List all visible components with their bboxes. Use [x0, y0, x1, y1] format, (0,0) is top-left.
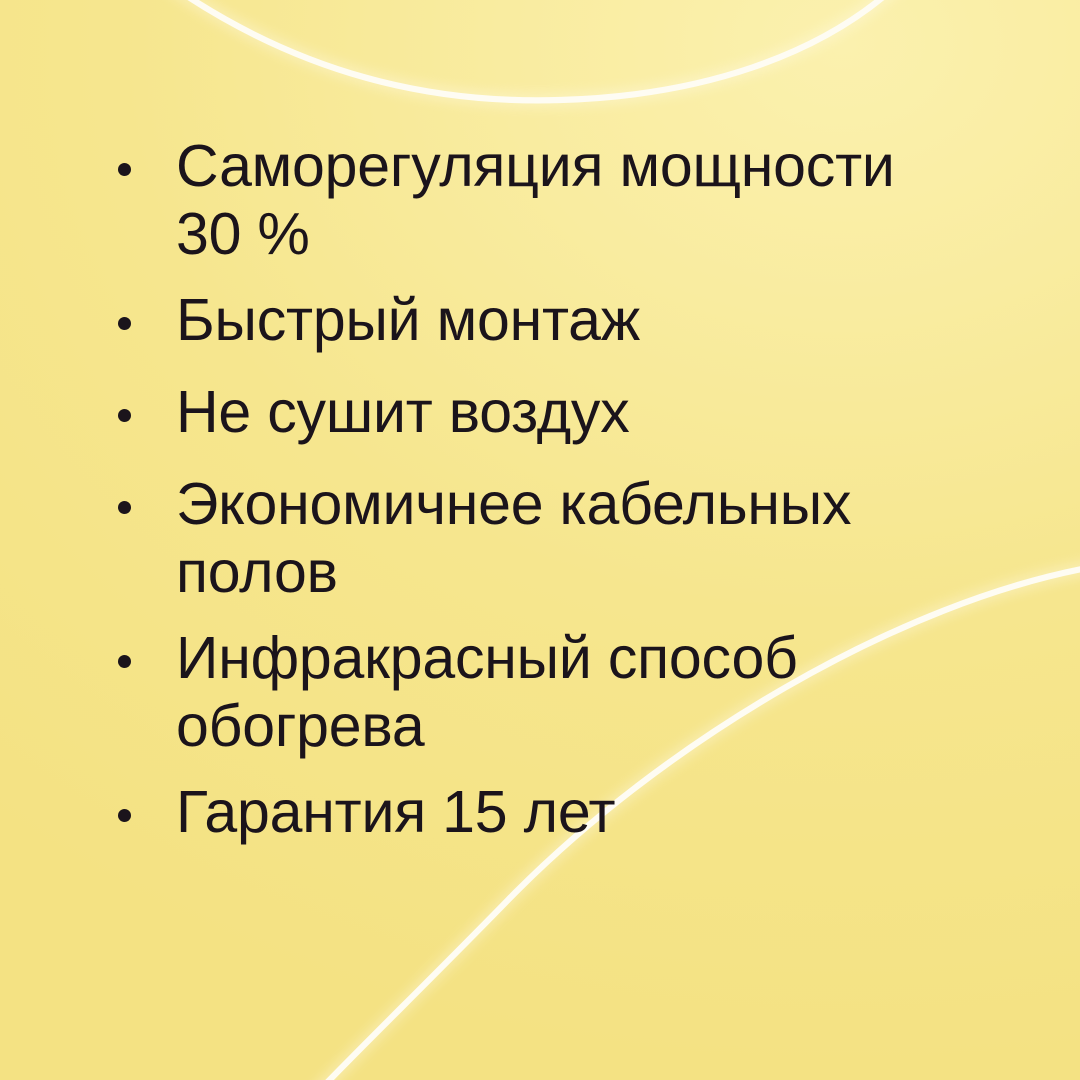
list-item-label: Гарантия 15 лет: [176, 778, 1004, 846]
bullet-dot-icon: [118, 409, 131, 422]
bullet-dot-icon: [118, 163, 131, 176]
list-item-label: Экономичнее кабельных полов: [176, 470, 1004, 606]
bullet-dot-icon: [118, 501, 131, 514]
list-item-label: Быстрый монтаж: [176, 286, 1004, 354]
list-item: Быстрый монтаж: [104, 286, 1004, 354]
bullet-dot-icon: [118, 655, 131, 668]
list-item-label: Не сушит воздух: [176, 378, 1004, 446]
top-arc-line-glow: [172, 0, 898, 100]
bullet-dot-icon: [118, 809, 131, 822]
list-item: Не сушит воздух: [104, 378, 1004, 446]
list-item-label: Саморегуляция мощности 30 %: [176, 132, 1004, 268]
list-item: Гарантия 15 лет: [104, 778, 1004, 846]
list-item: Инфракрасный способ обогрева: [104, 624, 1004, 760]
bullet-dot-icon: [118, 317, 131, 330]
benefits-bullet-list: Саморегуляция мощности 30 % Быстрый монт…: [104, 132, 1004, 846]
promo-slide: Саморегуляция мощности 30 % Быстрый монт…: [0, 0, 1080, 1080]
top-arc-line: [172, 0, 898, 100]
list-item: Саморегуляция мощности 30 %: [104, 132, 1004, 268]
list-item: Экономичнее кабельных полов: [104, 470, 1004, 606]
list-item-label: Инфракрасный способ обогрева: [176, 624, 1004, 760]
